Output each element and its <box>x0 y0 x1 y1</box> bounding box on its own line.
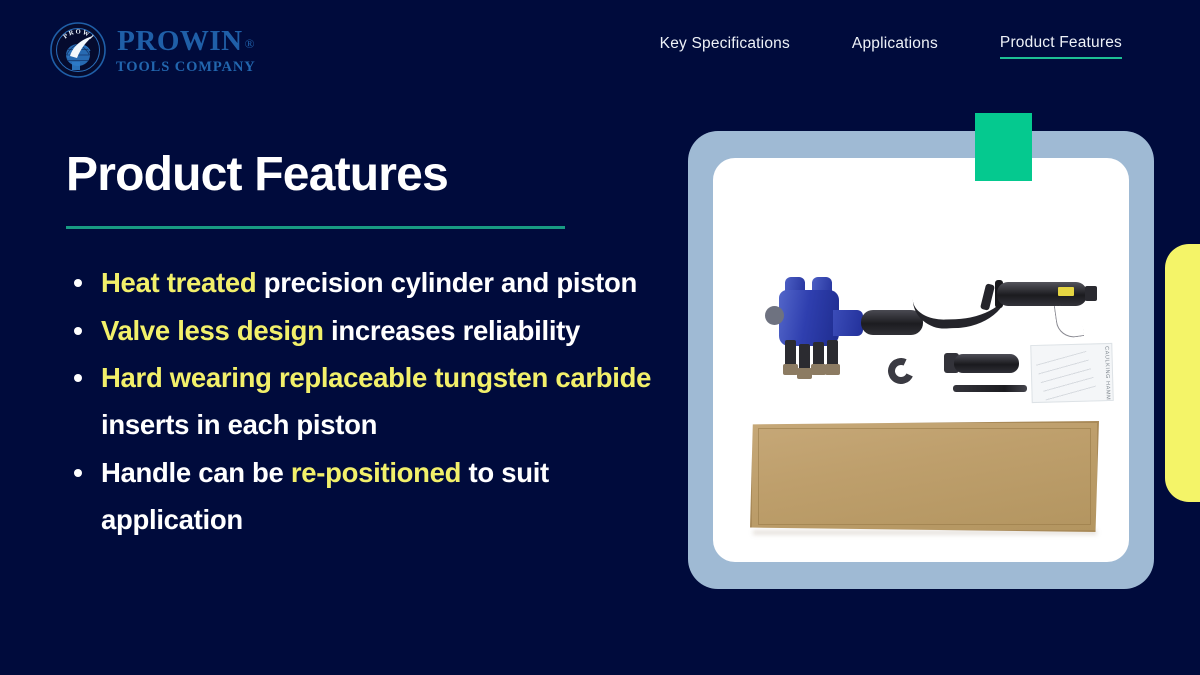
tool-knob-icon <box>765 306 784 325</box>
tag-diagram-lines <box>1036 351 1096 402</box>
feature-list: Heat treated precision cylinder and pist… <box>66 259 676 543</box>
title-divider <box>66 226 565 229</box>
yellow-rounded-accent <box>1165 244 1200 502</box>
feature-highlight: Hard wearing replaceable tungsten carbid… <box>101 362 651 393</box>
nav-item-key-specifications[interactable]: Key Specifications <box>660 35 790 58</box>
piston <box>799 344 810 374</box>
nav-item-applications[interactable]: Applications <box>852 35 938 58</box>
prowin-globe-swoosh-icon: PROWIN <box>50 22 106 78</box>
handle-label-sticker <box>1058 287 1074 296</box>
registered-trademark-icon: ® <box>245 37 255 50</box>
feature-highlight: Heat treated <box>101 267 256 298</box>
nav-item-product-features[interactable]: Product Features <box>1000 34 1122 59</box>
piston <box>827 340 838 370</box>
feature-highlight: re-positioned <box>291 457 461 488</box>
feature-text: precision cylinder and piston <box>256 267 637 298</box>
main-navigation: Key Specifications Applications Product … <box>660 34 1122 59</box>
piston <box>785 340 796 370</box>
feature-list-item: Hard wearing replaceable tungsten carbid… <box>66 354 676 449</box>
feature-list-item: Heat treated precision cylinder and pist… <box>66 259 676 306</box>
front-grip <box>861 310 923 335</box>
feature-text-lead: Handle can be <box>101 457 291 488</box>
product-visual: CAULKING HAMMER <box>688 131 1154 589</box>
feature-list-item: Valve less design increases reliability <box>66 307 676 354</box>
brand-subtitle: TOOLS COMPANY <box>116 60 256 75</box>
c-clip-accessory <box>884 354 917 387</box>
product-paper-tag: CAULKING HAMMER <box>1030 343 1113 403</box>
page-header: PROWIN PROWIN ® TOOLS COMPANY Key Specif… <box>0 0 1200 95</box>
air-inlet-cap <box>1085 286 1097 301</box>
punch-pin-accessory <box>953 385 1027 392</box>
page-title: Product Features <box>66 150 676 200</box>
tag-wire <box>1054 302 1084 339</box>
tool-taper <box>833 310 863 336</box>
brand-name: PROWIN <box>117 27 242 56</box>
brand-logo[interactable]: PROWIN PROWIN ® TOOLS COMPANY <box>50 22 256 78</box>
cardboard-box <box>750 421 1099 532</box>
content-column: Product Features Heat treated precision … <box>66 150 676 543</box>
tag-label-text: CAULKING HAMMER <box>1103 346 1111 403</box>
product-photo: CAULKING HAMMER <box>713 158 1129 562</box>
feature-highlight: Valve less design <box>101 315 324 346</box>
feature-text: inserts in each piston <box>101 409 377 440</box>
box-inner-edge <box>758 428 1091 525</box>
brand-wordmark: PROWIN ® TOOLS COMPANY <box>116 25 256 75</box>
feature-list-item: Handle can be re-positioned to suit appl… <box>66 449 676 544</box>
spare-handle-accessory <box>954 354 1019 373</box>
product-photo-card: CAULKING HAMMER <box>713 158 1129 562</box>
tool-body <box>779 290 839 346</box>
feature-text: increases reliability <box>324 315 580 346</box>
piston <box>813 342 824 370</box>
green-square-accent <box>975 113 1032 181</box>
